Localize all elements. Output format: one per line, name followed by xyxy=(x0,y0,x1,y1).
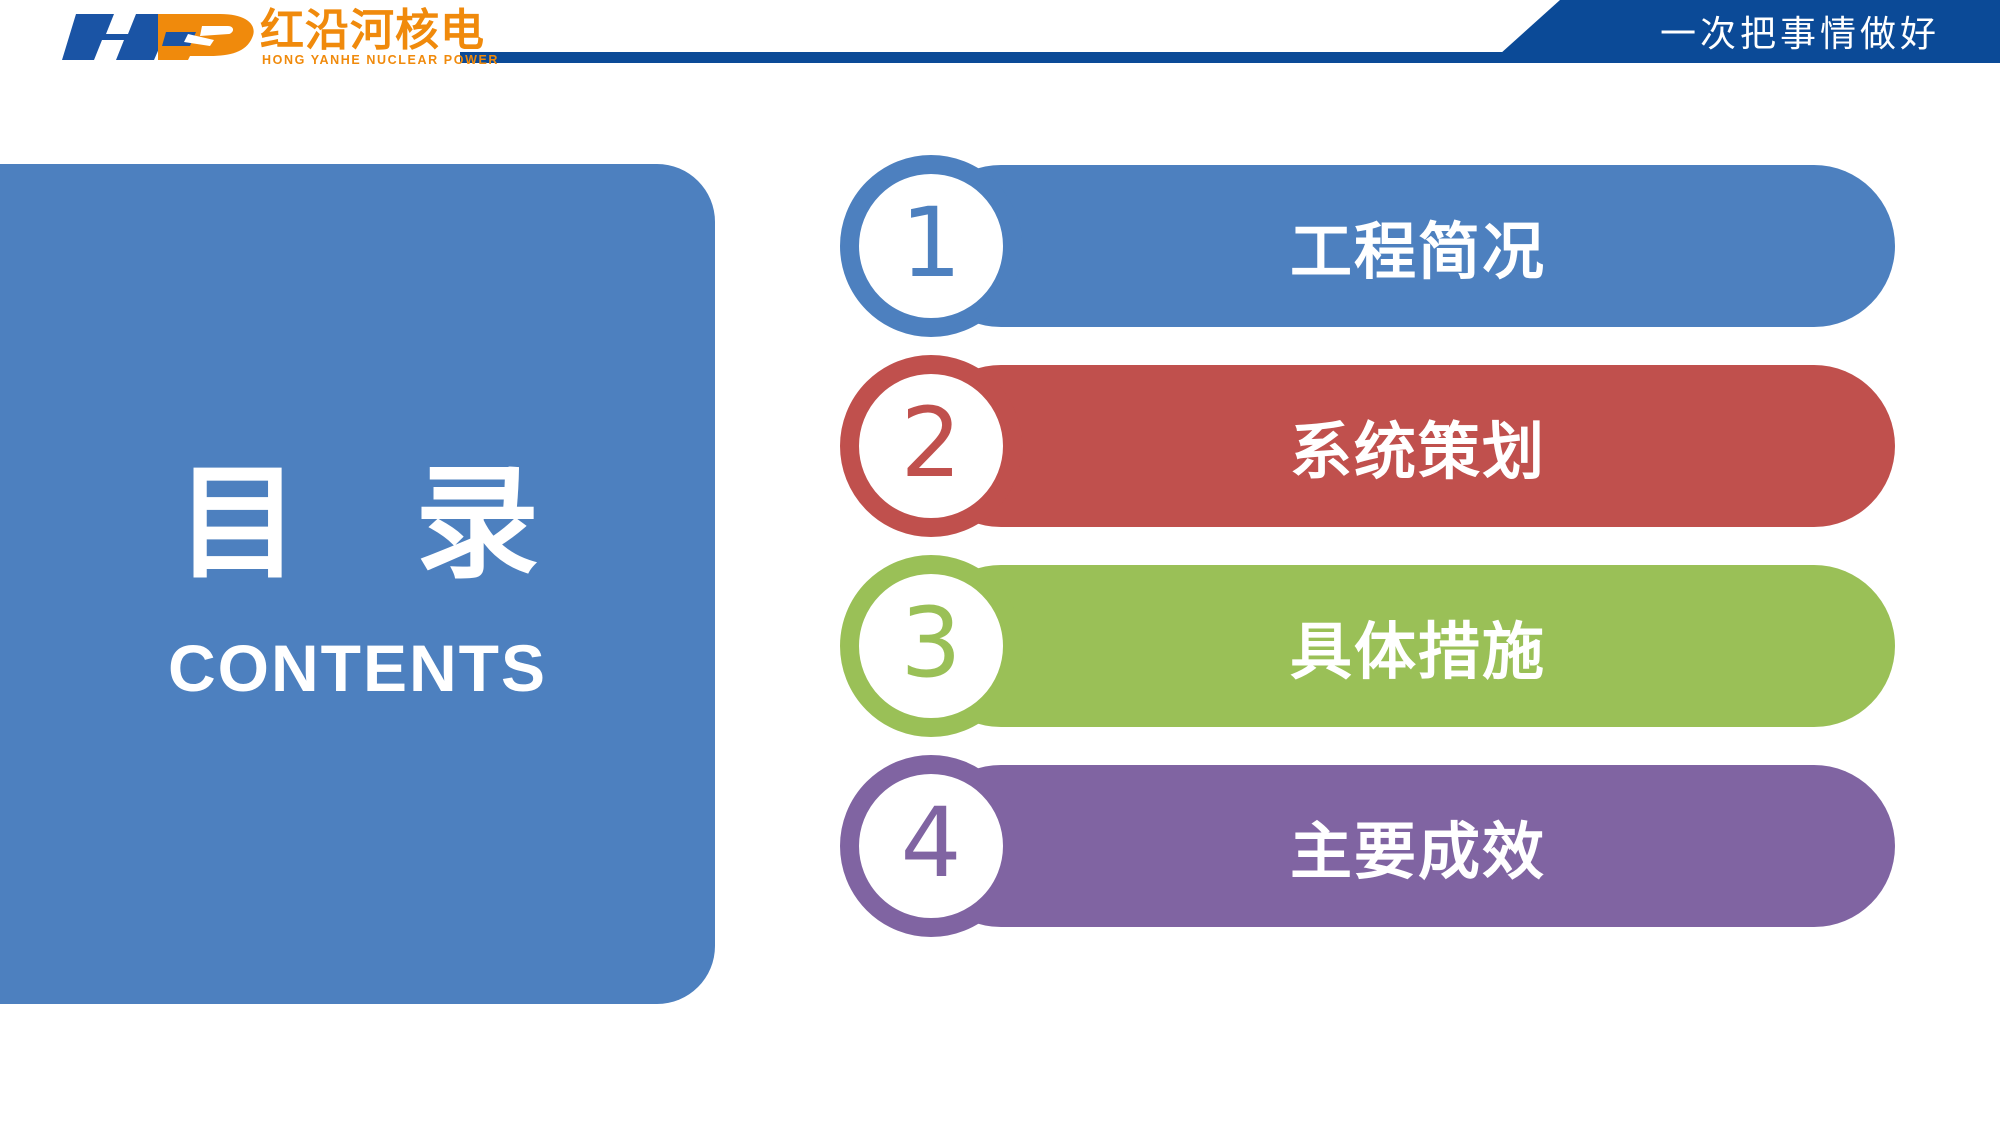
agenda-item-3-number: 3 xyxy=(900,595,961,691)
agenda-item-2-label: 系统策划 xyxy=(1290,365,1810,527)
agenda-item-3-number-circle[interactable]: 3 xyxy=(840,555,1022,737)
agenda-item-1-label: 工程简况 xyxy=(1290,165,1810,327)
agenda-item-4-number: 4 xyxy=(900,795,961,891)
agenda-item-4-number-circle[interactable]: 4 xyxy=(840,755,1022,937)
agenda-item-2-number-circle[interactable]: 2 xyxy=(840,355,1022,537)
agenda-item-4-label: 主要成效 xyxy=(1290,765,1810,927)
agenda-item-3-label: 具体措施 xyxy=(1290,565,1810,727)
agenda-item-1-number-circle[interactable]: 1 xyxy=(840,155,1022,337)
agenda-item-2-number: 2 xyxy=(900,395,961,491)
agenda-item-list: 工程简况 1 系统策划 2 具体措施 3 主要成效 4 xyxy=(0,0,2000,1125)
agenda-item-1-number: 1 xyxy=(900,195,961,291)
